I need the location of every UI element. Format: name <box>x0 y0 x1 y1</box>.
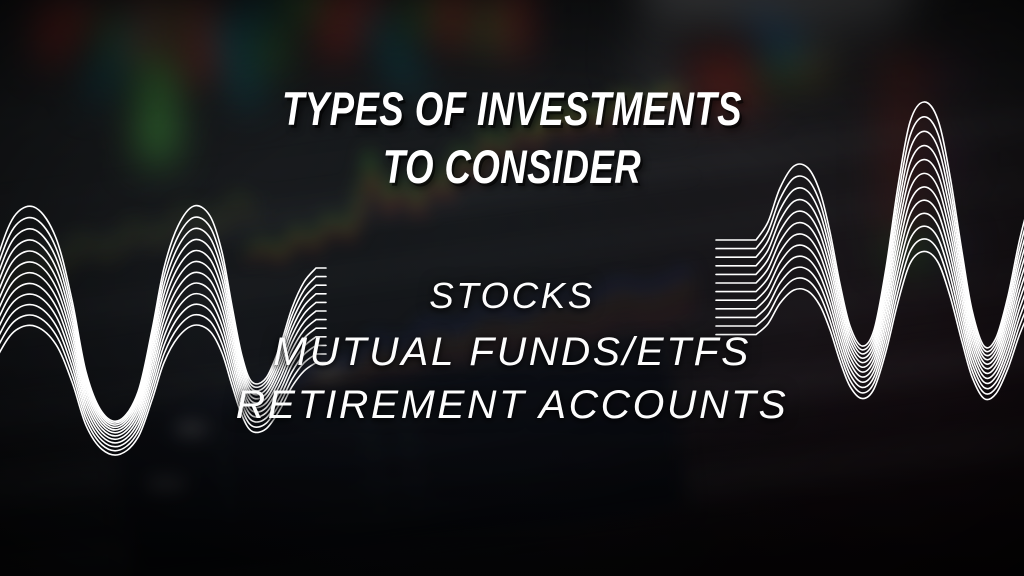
poster-canvas: Oct <box>0 0 1024 576</box>
investment-list-item-stocks: STOCKS <box>0 275 1024 317</box>
investment-list-item-mutual-funds: MUTUAL FUNDS/ETFS <box>0 330 1024 375</box>
investment-list-item-retirement-accounts: RETIREMENT ACCOUNTS <box>0 383 1024 428</box>
poster-title-line-1: TYPES OF INVESTMENTS <box>113 84 912 134</box>
poster-title-line-2: TO CONSIDER <box>113 142 912 192</box>
